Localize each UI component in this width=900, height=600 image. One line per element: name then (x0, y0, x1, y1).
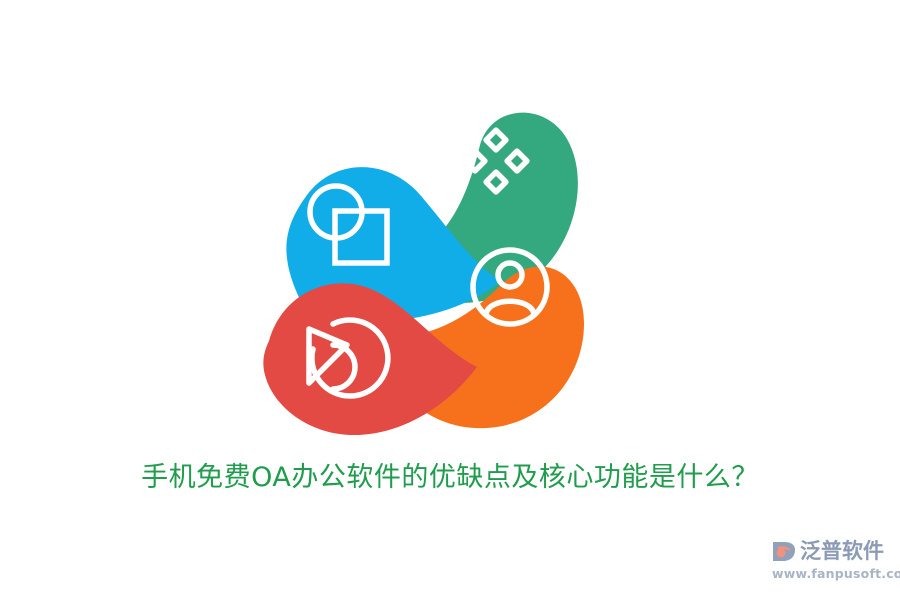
brand-url: www.fanpusoft.com (770, 566, 892, 581)
brand-watermark-row: 泛普软件 (770, 536, 892, 566)
brand-name: 泛普软件 (800, 538, 884, 565)
page-title: 手机免费OA办公软件的优缺点及核心功能是什么？ (0, 458, 900, 498)
page-root: 手机免费OA办公软件的优缺点及核心功能是什么？ 泛普软件 www.fanpuso… (0, 0, 900, 600)
brand-watermark: 泛普软件 www.fanpusoft.com (770, 536, 892, 588)
hero-graphic (255, 95, 585, 435)
fanpu-swoosh-logo-mark-icon (770, 538, 797, 565)
